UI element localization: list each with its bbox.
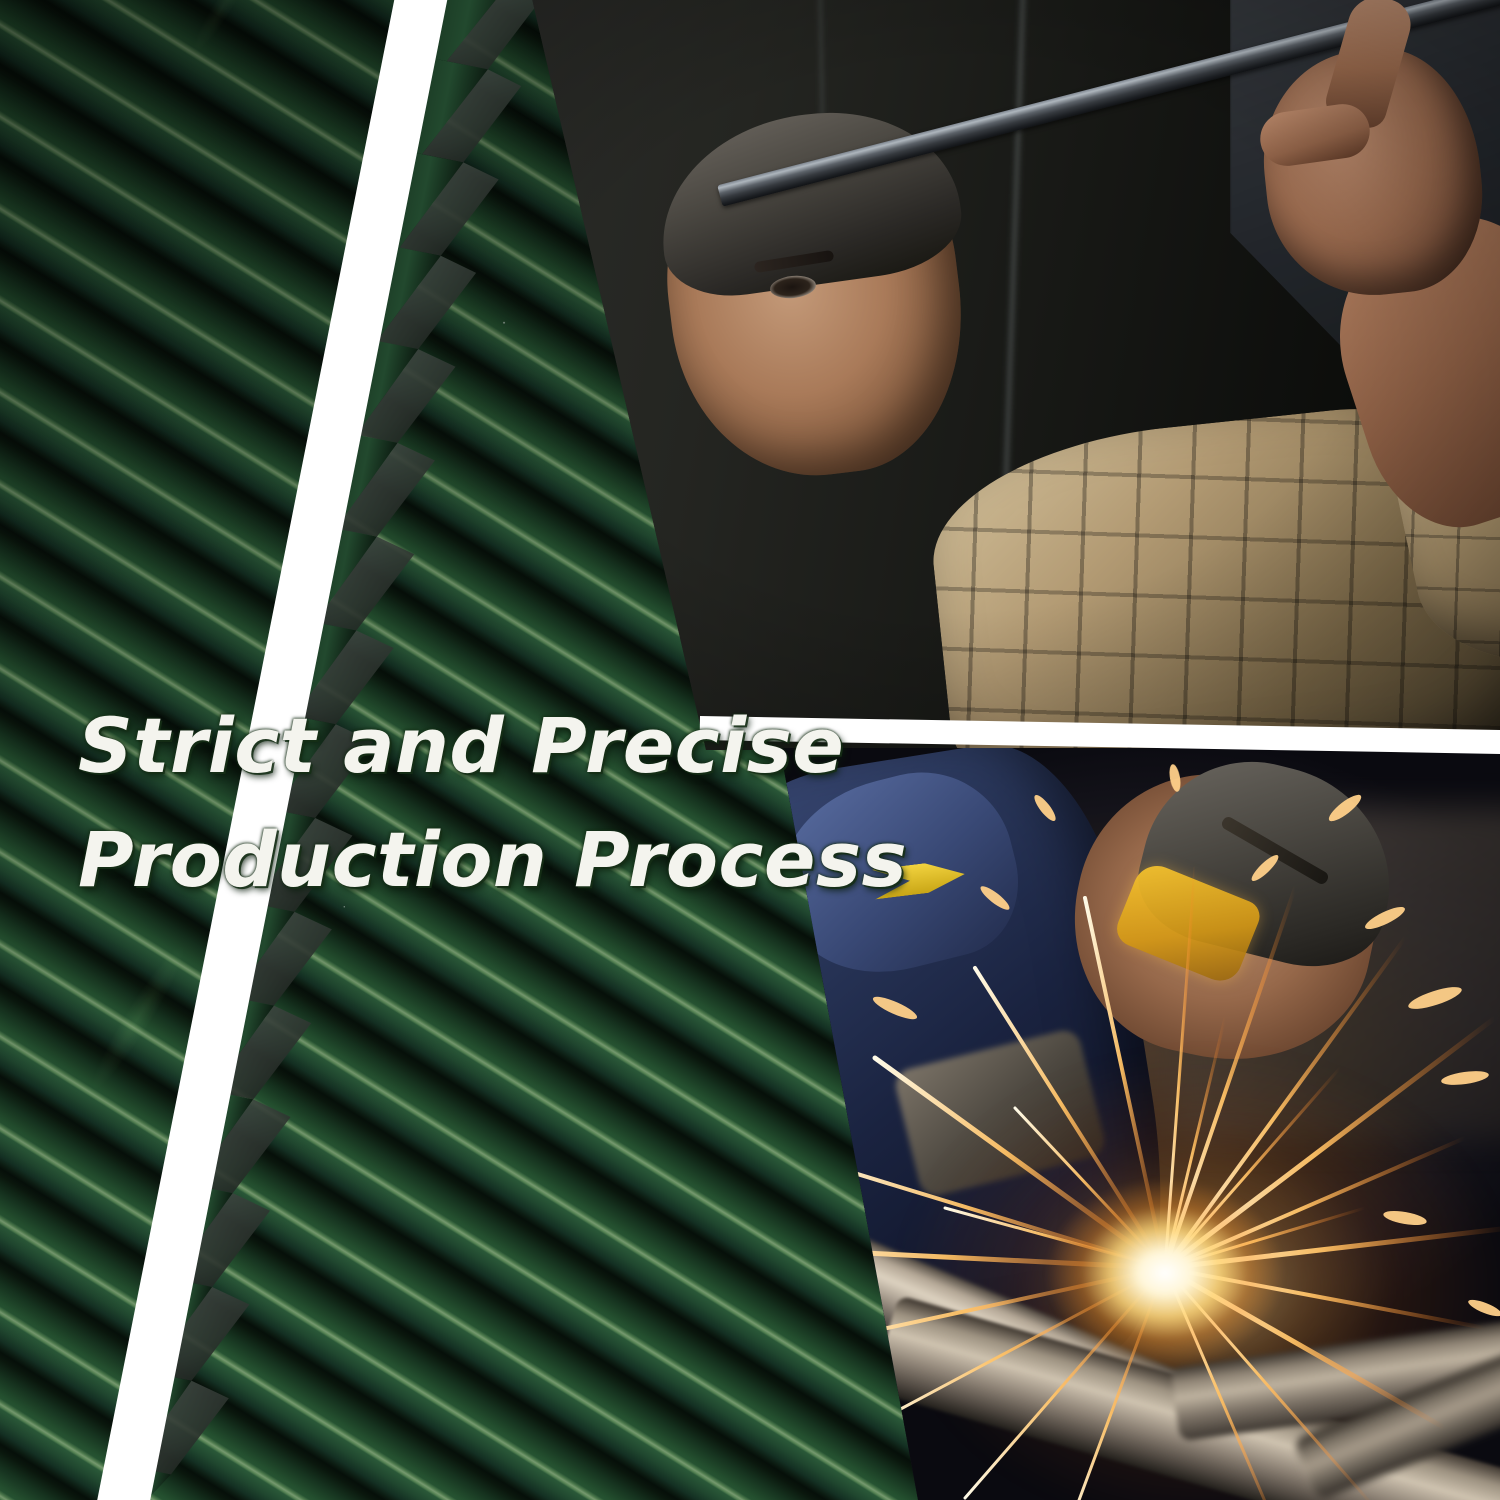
product-feature-banner: Strict and Precise Production Process (0, 0, 1500, 1500)
spark-hot-core (1045, 1178, 1285, 1368)
